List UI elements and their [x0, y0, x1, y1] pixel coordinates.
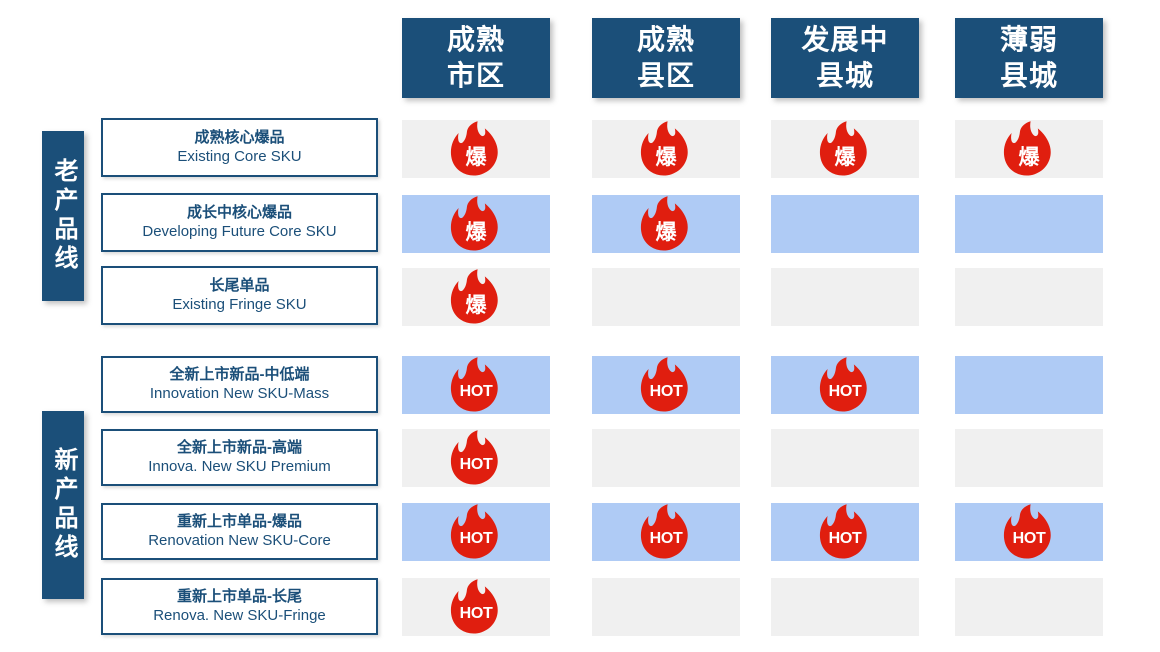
matrix-cell-r3-c4[interactable] [955, 268, 1103, 326]
flame-hot-icon: HOT [1003, 503, 1055, 561]
row-label-en: Renovation New SKU-Core [148, 531, 331, 551]
row-label-en: Innovation New SKU-Mass [150, 384, 329, 404]
flame-hot-icon: HOT [819, 356, 871, 414]
row-label-en: Innova. New SKU Premium [148, 457, 331, 477]
flame-label: HOT [450, 383, 502, 401]
flame-bao-icon: 爆 [640, 195, 692, 253]
matrix-cell-r6-c1[interactable]: HOT [402, 503, 550, 561]
column-header-line2: 县城 [1000, 58, 1058, 94]
flame-label: 爆 [450, 289, 502, 319]
row-label-2[interactable]: 长尾单品Existing Fringe SKU [101, 266, 378, 325]
matrix-cell-r6-c3[interactable]: HOT [771, 503, 919, 561]
matrix-cell-r1-c2[interactable]: 爆 [592, 120, 740, 178]
matrix-cell-r6-c2[interactable]: HOT [592, 503, 740, 561]
matrix-cell-r7-c3[interactable] [771, 578, 919, 636]
row-label-cn: 成长中核心爆品 [187, 203, 292, 222]
matrix-cell-r5-c4[interactable] [955, 429, 1103, 487]
matrix-cell-r2-c4[interactable] [955, 195, 1103, 253]
flame-hot-icon: HOT [640, 356, 692, 414]
matrix-diagram: 成熟市区成熟县区发展中县城薄弱县城 老产品线新产品线 成熟核心爆品Existin… [0, 0, 1160, 652]
matrix-cell-r3-c2[interactable] [592, 268, 740, 326]
group-label-text: 新产品线 [51, 447, 75, 563]
flame-label: HOT [450, 605, 502, 623]
row-label-4[interactable]: 全新上市新品-高端Innova. New SKU Premium [101, 429, 378, 486]
row-label-cn: 全新上市新品-中低端 [170, 365, 310, 384]
flame-label: 爆 [640, 216, 692, 246]
column-header-line1: 成熟 [637, 22, 695, 58]
row-label-cn: 成熟核心爆品 [194, 128, 284, 147]
row-label-en: Existing Core SKU [177, 147, 301, 167]
group-label-text: 老产品线 [51, 158, 75, 274]
row-label-cn: 重新上市单品-爆品 [177, 512, 302, 531]
flame-bao-icon: 爆 [819, 120, 871, 178]
flame-label: HOT [450, 456, 502, 474]
column-header-developing-county-town: 发展中县城 [771, 18, 919, 98]
matrix-cell-r4-c1[interactable]: HOT [402, 356, 550, 414]
matrix-cell-r2-c3[interactable] [771, 195, 919, 253]
row-label-cn: 全新上市新品-高端 [177, 438, 302, 457]
matrix-cell-r5-c1[interactable]: HOT [402, 429, 550, 487]
matrix-cell-r3-c1[interactable]: 爆 [402, 268, 550, 326]
matrix-cell-r7-c4[interactable] [955, 578, 1103, 636]
flame-label: HOT [819, 383, 871, 401]
row-label-en: Existing Fringe SKU [172, 295, 306, 315]
column-header-weak-county-town: 薄弱县城 [955, 18, 1103, 98]
flame-hot-icon: HOT [450, 356, 502, 414]
flame-hot-icon: HOT [450, 578, 502, 636]
column-header-line2: 市区 [447, 58, 505, 94]
flame-label: 爆 [1003, 141, 1055, 171]
matrix-cell-r7-c2[interactable] [592, 578, 740, 636]
matrix-cell-r2-c2[interactable]: 爆 [592, 195, 740, 253]
flame-label: HOT [640, 383, 692, 401]
flame-label: 爆 [450, 141, 502, 171]
matrix-cell-r4-c3[interactable]: HOT [771, 356, 919, 414]
row-label-cn: 重新上市单品-长尾 [177, 587, 302, 606]
matrix-cell-r4-c4[interactable] [955, 356, 1103, 414]
flame-bao-icon: 爆 [450, 120, 502, 178]
flame-label: HOT [640, 530, 692, 548]
flame-bao-icon: 爆 [450, 268, 502, 326]
flame-hot-icon: HOT [640, 503, 692, 561]
matrix-cell-r5-c3[interactable] [771, 429, 919, 487]
matrix-cell-r7-c1[interactable]: HOT [402, 578, 550, 636]
flame-hot-icon: HOT [450, 429, 502, 487]
flame-bao-icon: 爆 [640, 120, 692, 178]
matrix-cell-r3-c3[interactable] [771, 268, 919, 326]
column-header-line2: 县城 [816, 58, 874, 94]
flame-label: 爆 [450, 216, 502, 246]
matrix-cell-r5-c2[interactable] [592, 429, 740, 487]
column-header-mature-urban: 成熟市区 [402, 18, 550, 98]
group-label-old-product-line: 老产品线 [42, 131, 84, 301]
column-header-line1: 发展中 [801, 22, 888, 58]
matrix-cell-r2-c1[interactable]: 爆 [402, 195, 550, 253]
row-label-cn: 长尾单品 [209, 276, 269, 295]
row-label-1[interactable]: 成长中核心爆品Developing Future Core SKU [101, 193, 378, 252]
column-header-line2: 县区 [637, 58, 695, 94]
matrix-cell-r1-c1[interactable]: 爆 [402, 120, 550, 178]
column-header-mature-county-district: 成熟县区 [592, 18, 740, 98]
row-label-5[interactable]: 重新上市单品-爆品Renovation New SKU-Core [101, 503, 378, 560]
group-label-new-product-line: 新产品线 [42, 411, 84, 599]
flame-hot-icon: HOT [819, 503, 871, 561]
row-label-en: Developing Future Core SKU [142, 222, 336, 242]
flame-label: HOT [1003, 530, 1055, 548]
flame-bao-icon: 爆 [1003, 120, 1055, 178]
flame-label: HOT [450, 530, 502, 548]
matrix-cell-r4-c2[interactable]: HOT [592, 356, 740, 414]
flame-label: 爆 [819, 141, 871, 171]
flame-label: HOT [819, 530, 871, 548]
matrix-cell-r1-c3[interactable]: 爆 [771, 120, 919, 178]
column-header-line1: 成熟 [447, 22, 505, 58]
matrix-cell-r6-c4[interactable]: HOT [955, 503, 1103, 561]
column-header-line1: 薄弱 [1000, 22, 1058, 58]
flame-hot-icon: HOT [450, 503, 502, 561]
flame-label: 爆 [640, 141, 692, 171]
row-label-6[interactable]: 重新上市单品-长尾Renova. New SKU-Fringe [101, 578, 378, 635]
matrix-cell-r1-c4[interactable]: 爆 [955, 120, 1103, 178]
flame-bao-icon: 爆 [450, 195, 502, 253]
row-label-en: Renova. New SKU-Fringe [153, 606, 326, 626]
row-label-3[interactable]: 全新上市新品-中低端Innovation New SKU-Mass [101, 356, 378, 413]
row-label-0[interactable]: 成熟核心爆品Existing Core SKU [101, 118, 378, 177]
